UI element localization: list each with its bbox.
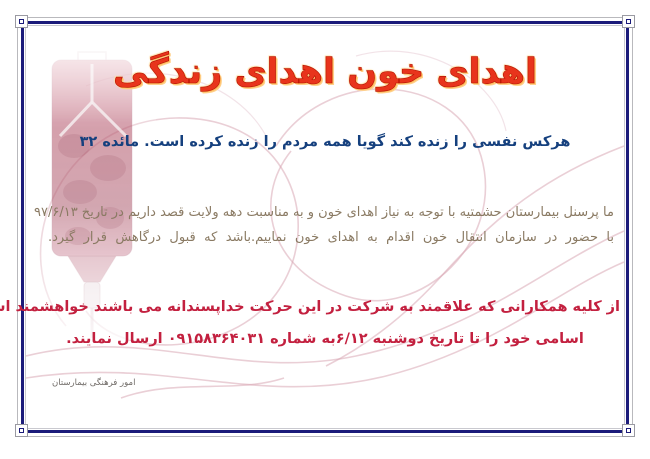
quran-verse: هرکس نفسی را زنده کند گویا همه مردم را ز… — [30, 134, 620, 150]
body-line-2: با حضور در سازمان انتقال خون اقدام به اه… — [48, 225, 614, 250]
frame-corner-top-right — [622, 15, 635, 28]
body-line-1: ما پرسنل بیمارستان حشمتیه با توجه به نیا… — [48, 200, 614, 225]
signature-cultural-affairs: امور فرهنگی بیمارستان — [52, 378, 135, 388]
poster-canvas: اهدای خون اهدای زندگی هرکس نفسی را زنده … — [0, 0, 650, 459]
poster-title-container: اهدای خون اهدای زندگی — [30, 52, 620, 92]
frame-corner-bottom-left — [15, 424, 28, 437]
frame-corner-bottom-right — [622, 424, 635, 437]
frame-corner-top-left — [15, 15, 28, 28]
body-paragraph: ما پرسنل بیمارستان حشمتیه با توجه به نیا… — [48, 200, 614, 251]
page-title: اهدای خون اهدای زندگی — [113, 52, 537, 92]
call-to-action: از کلیه همکارانی که علاقمند به شرکت در ا… — [30, 292, 620, 356]
cta-line-1: از کلیه همکارانی که علاقمند به شرکت در ا… — [30, 292, 620, 324]
cta-line-2: اسامی خود را تا تاریخ دوشنبه ۶/۱۲به شمار… — [30, 324, 620, 356]
poster-content: اهدای خون اهدای زندگی هرکس نفسی را زنده … — [30, 30, 620, 424]
